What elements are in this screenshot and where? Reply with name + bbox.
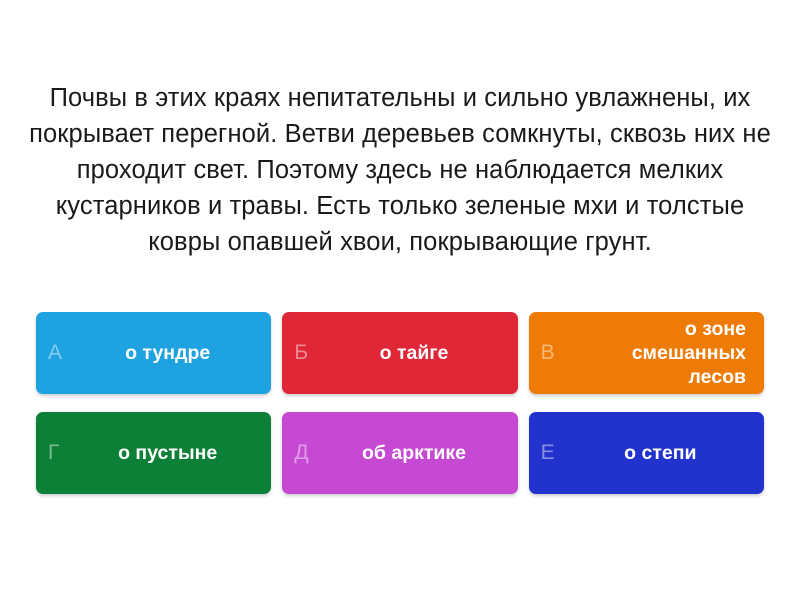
answer-option-b[interactable]: Б о тайге: [282, 312, 517, 394]
question-area: Почвы в этих краях непитательны и сильно…: [0, 80, 800, 260]
question-text: Почвы в этих краях непитательны и сильно…: [24, 80, 776, 260]
answer-letter-d: Г: [48, 441, 82, 464]
answer-option-c[interactable]: В о зоне смешанных лесов: [529, 312, 764, 394]
answer-option-a[interactable]: А о тундре: [36, 312, 271, 394]
answer-letter-b: Б: [294, 341, 328, 364]
answer-letter-a: А: [48, 341, 82, 364]
answer-letter-e: Д: [294, 441, 328, 464]
answer-option-e[interactable]: Д об арктике: [282, 412, 517, 494]
answer-option-d[interactable]: Г о пустыне: [36, 412, 271, 494]
answer-label-b: о тайге: [328, 341, 503, 365]
answer-option-f[interactable]: Е о степи: [529, 412, 764, 494]
answer-label-a: о тундре: [82, 341, 257, 365]
answer-label-e: об арктике: [328, 441, 503, 465]
answer-letter-f: Е: [541, 441, 575, 464]
answer-label-d: о пустыне: [82, 441, 257, 465]
answer-options-grid: А о тундре Б о тайге В о зоне смешанных …: [36, 312, 764, 494]
quiz-slide: Почвы в этих краях непитательны и сильно…: [0, 0, 800, 600]
answer-label-f: о степи: [575, 441, 750, 465]
answer-letter-c: В: [541, 341, 575, 364]
answer-label-c: о зоне смешанных лесов: [575, 317, 750, 389]
